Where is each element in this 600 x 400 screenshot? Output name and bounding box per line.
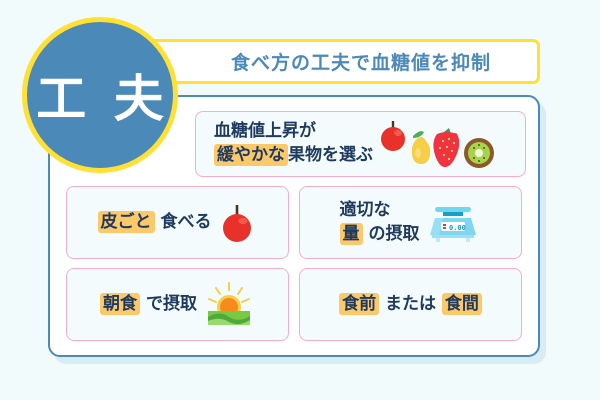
card-eat-at-breakfast-text: 朝食 で摂取 [100,293,197,316]
highlight-breakfast: 朝食 [100,293,140,315]
card-eat-with-skin: 皮ごと 食べる [66,186,289,259]
amount-line-1: 適切な [340,199,420,223]
card-choose-slow-fruit-text: 血糖値上昇が 緩やかな果物を選ぶ [214,120,373,168]
scale-display: 0.00 [449,224,466,232]
card-eat-at-breakfast-plain: で摂取 [146,294,197,314]
apple-icon [381,120,405,153]
highlight-slow: 緩やかな [214,144,288,166]
badge-label: 工 夫 [31,59,168,131]
highlight-with-skin: 皮ごと [98,211,155,233]
highlight-before-meal: 食前 [339,293,379,315]
pear-icon [412,131,430,164]
page-title: 食べ方の工夫で血糖値を抑制 [161,48,491,75]
highlight-between-meal: 食間 [442,293,482,315]
card-before-or-between-meals: 食前 または 食間 [299,268,522,341]
strawberry-icon [433,128,459,167]
card-choose-slow-fruit: 血糖値上昇が 緩やかな果物を選ぶ [195,111,526,177]
card-row-3: 朝食 で摂取 [66,268,522,341]
card-appropriate-amount: 適切な 量 の摂取 0.00 [299,186,522,259]
conjunction-or: または [385,294,436,314]
card-eat-with-skin-plain: 食べる [160,212,211,232]
kitchen-scale-icon: 0.00 [425,199,481,247]
fruit-icon-group [377,115,497,173]
highlight-amount: 量 [340,223,363,245]
card-row-2: 皮ごと 食べる 適切な 量 の摂取 [66,186,522,259]
amount-line-2-plain: の摂取 [368,224,419,244]
card-appropriate-amount-text: 適切な 量 の摂取 [340,199,420,247]
card-line-1: 血糖値上昇が [214,120,373,144]
badge-circle: 工 夫 [22,17,178,173]
kiwi-icon [464,138,494,168]
card-eat-at-breakfast: 朝食 で摂取 [66,268,289,341]
card-before-or-between-meals-text: 食前 または 食間 [339,293,482,316]
page-title-bar: 食べ方の工夫で血糖値を抑制 [112,39,540,84]
card-eat-with-skin-text: 皮ごと 食べる [98,211,212,234]
sunrise-icon [203,281,255,329]
apple-icon-single [217,199,257,247]
card-line-2-plain: 果物を選ぶ [288,145,373,165]
